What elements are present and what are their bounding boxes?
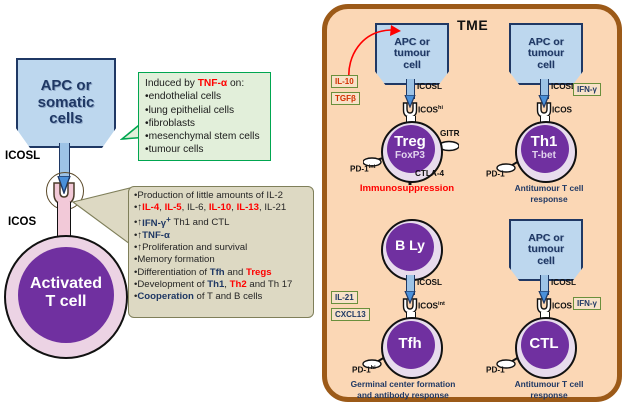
beige-line: •↑IL-4, IL-5, IL-6, IL-10, IL-13, IL-21 — [134, 202, 308, 214]
apc-ctl-line3: cell — [528, 256, 564, 268]
th1-cell-sublabel: T-bet — [515, 151, 573, 162]
apc-tumour-label-ctl: APC or tumour cell — [528, 233, 564, 268]
badge-ifng-th1: IFN-γ — [573, 83, 601, 96]
badge-ifng-ctl: IFN-γ — [573, 297, 601, 310]
icos-sup-tfh: int — [438, 301, 445, 307]
badge-il10: IL-10 — [331, 75, 358, 88]
pd1-text-ctl: PD-1 — [486, 366, 505, 375]
ctla4-label: CTLA-4 — [415, 169, 444, 178]
il10-feedback-arrow — [333, 21, 403, 83]
pd1-sup-tfh: hi — [371, 365, 376, 371]
beige-line: •Memory formation — [134, 254, 308, 266]
icosl-label-tfh: ICOSL — [417, 278, 442, 287]
gitr-label: GITR — [440, 129, 460, 138]
beige-line: •↑Proliferation and survival — [134, 242, 308, 254]
immunosuppression-caption: Immunosuppression — [337, 183, 477, 194]
ctl-caption: Antitumour T cell response — [481, 379, 617, 400]
treg-cell-label: Treg — [381, 134, 439, 150]
beige-line: •↑TNF-α — [134, 230, 308, 242]
badge-il21: IL-21 — [331, 291, 358, 304]
tfh-caption: Germinal center formation and antibody r… — [329, 379, 477, 400]
activated-t-cell-label: Activated T cell — [18, 275, 114, 312]
beige-line: •Production of little amounts of IL-2 — [134, 190, 308, 202]
th1-cell-label: Th1 — [515, 134, 573, 150]
green-header-post: on: — [227, 78, 244, 89]
green-header-tnfa: TNF-α — [198, 78, 227, 89]
tfh-caption-line2: and antibody response — [329, 390, 477, 401]
ctl-caption-line2: response — [481, 390, 617, 401]
green-callout-item: •lung epithelial cells — [145, 104, 265, 117]
treg-cell-sublabel: FoxP3 — [381, 151, 439, 162]
apc-label-line3: cells — [38, 111, 95, 128]
apc-label-line1: APC or — [38, 78, 95, 95]
t-cell-label-line1: Activated — [18, 275, 114, 293]
icos-label: ICOS — [8, 216, 36, 228]
green-callout-item: •tumour cells — [145, 143, 265, 156]
tme-quadrant-ctl: APC or tumour cell ICOSL ICOS CTL PD-1 I… — [477, 205, 621, 401]
tme-panel: TME APC or tumour cell ICOSL ICOShi — [322, 4, 622, 402]
green-callout-item: •mesenchymal stem cells — [145, 130, 265, 143]
icos-label-ctl: ICOS — [552, 301, 572, 311]
green-item-4-label: tumour cells — [149, 144, 204, 155]
apc-th1-line3: cell — [528, 60, 564, 72]
icos-text-tfh: ICOS — [418, 302, 438, 311]
green-callout-header: Induced by TNF-α on: — [145, 77, 265, 90]
ctl-caption-line1: Antitumour T cell — [481, 379, 617, 390]
beige-line: •Differentiation of Tfh and Tregs — [134, 267, 308, 279]
green-item-0-label: endothelial cells — [149, 91, 222, 102]
th1-caption-line2: response — [481, 194, 617, 205]
icos-text-ctl: ICOS — [552, 302, 572, 311]
icosl-label-ctl: ICOSL — [551, 278, 576, 287]
apc-label-line2: somatic — [38, 95, 95, 112]
beige-line: •↑IFN-γ+ Th1 and CTL — [134, 214, 308, 229]
gitr-text: GITR — [440, 129, 460, 138]
badge-tgfb: TGFβ — [331, 92, 360, 105]
icos-sup-treg: hi — [438, 105, 443, 111]
ctl-cell-label: CTL — [515, 336, 573, 352]
tme-quadrant-tfh: B Ly ICOSL ICOSint Tfh PD-1hi IL-21 CXCL… — [327, 205, 477, 401]
apc-somatic-cells-box: APC or somatic cells — [16, 58, 116, 148]
icosl-label-treg: ICOSL — [417, 82, 442, 91]
green-callout-item: •fibroblasts — [145, 117, 265, 130]
icos-stem — [57, 202, 71, 238]
pd1-text-tfh: PD-1 — [352, 366, 371, 375]
pd1-text-treg: PD-1 — [350, 165, 369, 174]
beige-line: •Cooperation of T and B cells — [134, 291, 308, 303]
tme-quadrant-th1: APC or tumour cell ICOSL ICOS Th1 T-bet … — [477, 9, 621, 205]
apc-tumour-cell-box-th1: APC or tumour cell — [509, 23, 583, 85]
icos-label-tfh: ICOSint — [418, 301, 445, 311]
green-callout-item: •endothelial cells — [145, 90, 265, 103]
th1-caption: Antitumour T cell response — [481, 183, 617, 204]
green-item-2-label: fibroblasts — [149, 118, 195, 129]
ctla4-text: CTLA-4 — [415, 169, 444, 178]
green-item-3-label: mesenchymal stem cells — [149, 131, 260, 142]
tfh-caption-line1: Germinal center formation — [329, 379, 477, 390]
badge-cxcl13: CXCL13 — [331, 308, 370, 321]
pd1-label-ctl: PD-1 — [486, 365, 505, 375]
green-callout-box: Induced by TNF-α on: •endothelial cells … — [138, 72, 271, 161]
beige-callout-box: •Production of little amounts of IL-2 •↑… — [128, 186, 314, 318]
pd1-label-treg: PD-1int — [350, 164, 376, 174]
icos-text-th1: ICOS — [552, 106, 572, 115]
th1-caption-line1: Antitumour T cell — [481, 183, 617, 194]
green-header-pre: Induced by — [145, 78, 198, 89]
left-panel: APC or somatic cells ICOSL ICOS Activate… — [0, 0, 318, 408]
icos-label-treg: ICOShi — [418, 105, 443, 115]
apc-somatic-cells-label: APC or somatic cells — [38, 78, 95, 128]
t-cell-label-line2: T cell — [18, 293, 114, 311]
icos-label-th1: ICOS — [552, 105, 572, 115]
tme-quadrant-treg: APC or tumour cell ICOSL ICOShi — [327, 9, 477, 205]
green-item-1-label: lung epithelial cells — [149, 105, 235, 116]
pd1-label-tfh: PD-1hi — [352, 365, 376, 375]
apc-tumour-cell-box-ctl: APC or tumour cell — [509, 219, 583, 281]
beige-line: •Development of Th1, Th2 and Th 17 — [134, 279, 308, 291]
pd1-label-th1: PD-1 — [486, 169, 505, 179]
apc-tumour-label-th1: APC or tumour cell — [528, 37, 564, 72]
pd1-text-th1: PD-1 — [486, 170, 505, 179]
icos-text-treg: ICOS — [418, 106, 438, 115]
b-ly-cell-label: B Ly — [381, 238, 439, 253]
beige-callout-tail — [72, 186, 132, 248]
tfh-cell-label: Tfh — [381, 336, 439, 352]
icosl-label: ICOSL — [5, 150, 40, 162]
pd1-sup-treg: int — [369, 164, 376, 170]
